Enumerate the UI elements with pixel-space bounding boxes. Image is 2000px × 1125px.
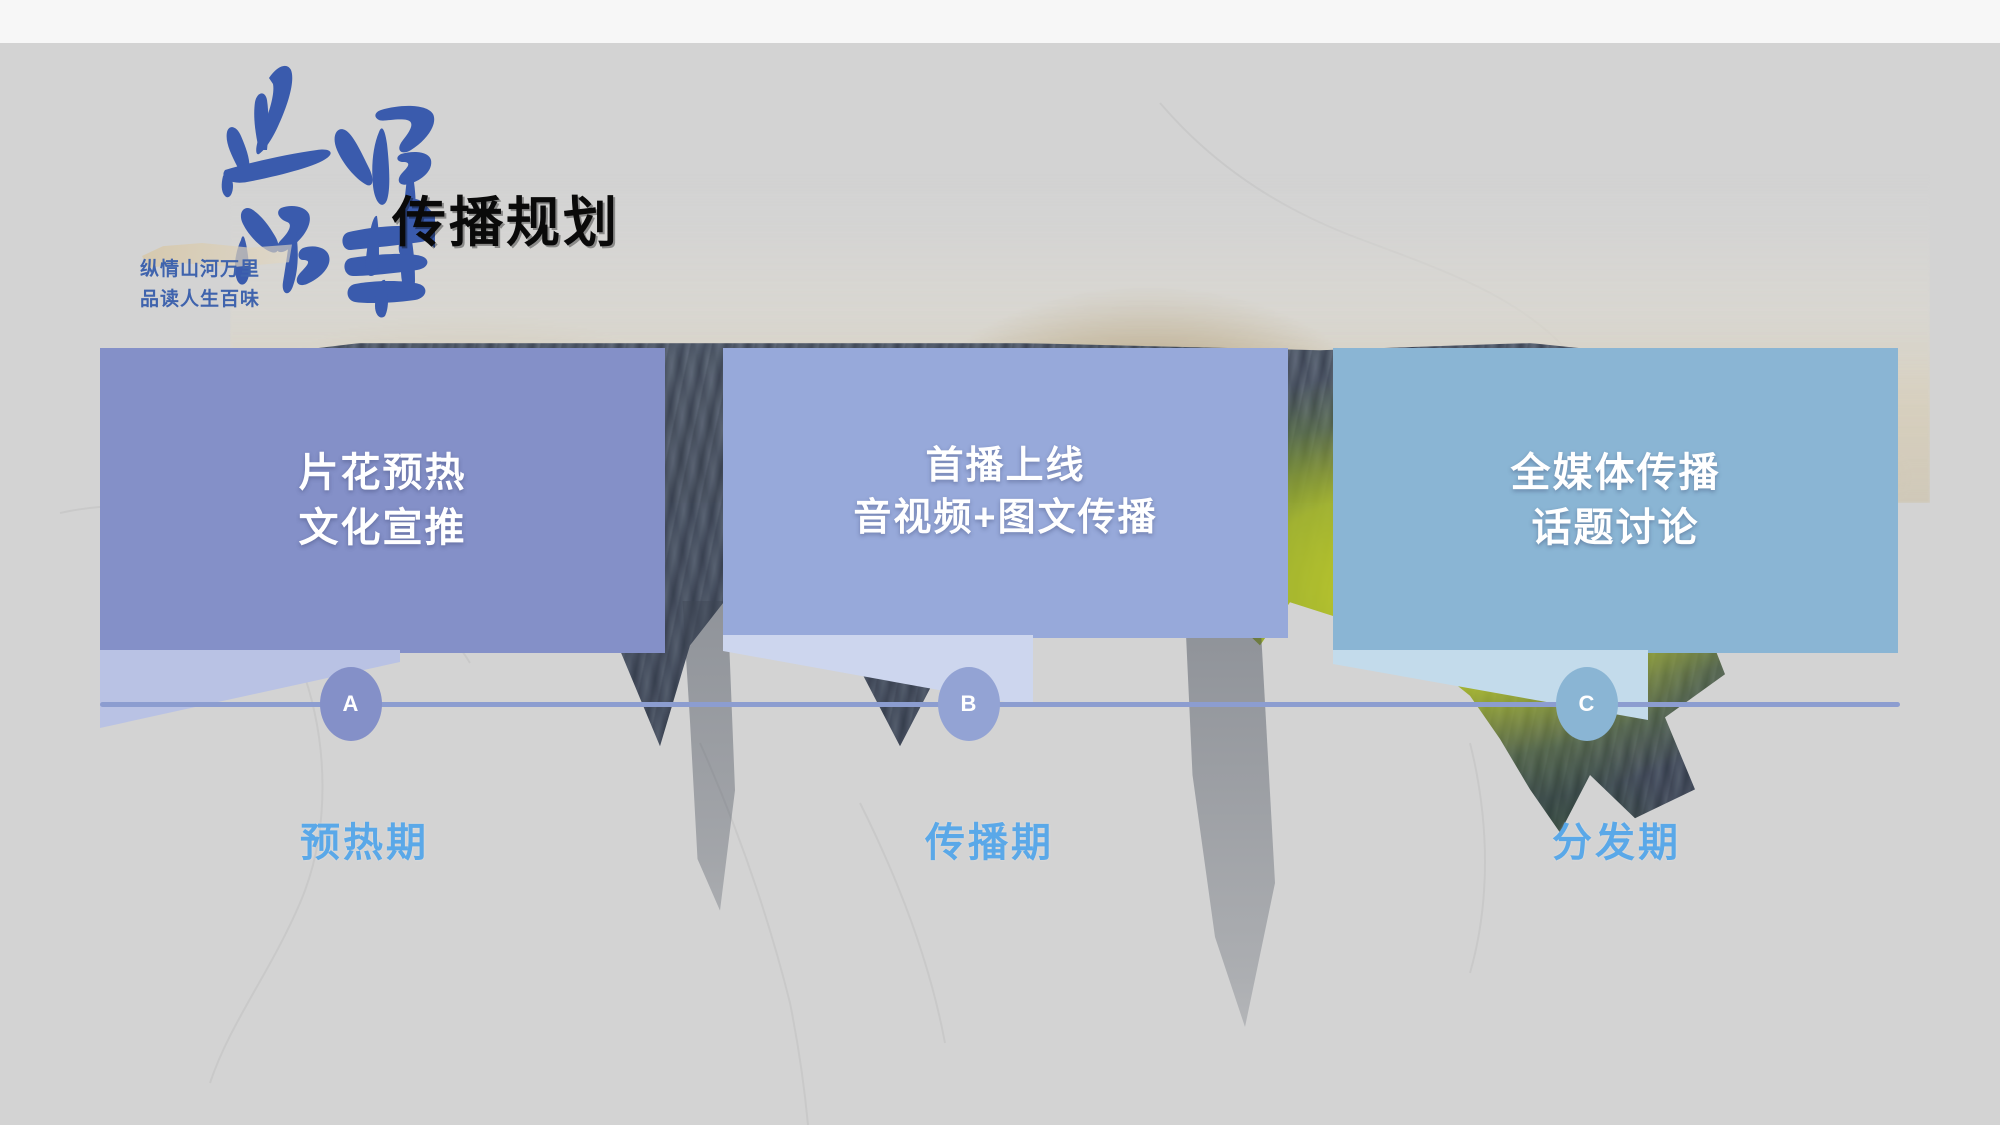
timeline-label-a: 预热期	[300, 810, 429, 868]
timeline-node-c-marker: C	[1579, 691, 1596, 717]
phase-cards: 片花预热 文化宣推 首播上线 音视频+图文传播 全媒体传播 话题讨论	[0, 43, 2000, 1125]
slide-canvas: 纵情山河万里 品读人生百味 传播规划 片花预热 文化宣推 首播上线 音视频+图文…	[0, 43, 2000, 1125]
phase-card-b-text: 首播上线 音视频+图文传播	[835, 441, 1175, 544]
phase-card-c[interactable]: 全媒体传播 话题讨论	[1333, 348, 1898, 653]
timeline-node-c[interactable]: C	[1556, 667, 1618, 741]
timeline-node-a[interactable]: A	[320, 667, 382, 741]
top-strip	[0, 0, 2000, 43]
timeline-label-c: 分发期	[1552, 810, 1681, 868]
phase-card-a[interactable]: 片花预热 文化宣推	[100, 348, 665, 653]
timeline-label-b: 传播期	[925, 810, 1054, 868]
slide-root: 纵情山河万里 品读人生百味 传播规划 片花预热 文化宣推 首播上线 音视频+图文…	[0, 0, 2000, 1125]
timeline-node-a-marker: A	[343, 691, 360, 717]
timeline-node-b-marker: B	[961, 691, 978, 717]
timeline-node-b[interactable]: B	[938, 667, 1000, 741]
phase-card-b[interactable]: 首播上线 音视频+图文传播	[723, 348, 1288, 638]
phase-card-c-text: 全媒体传播 话题讨论	[1493, 446, 1739, 555]
phase-card-a-text: 片花预热 文化宣推	[281, 446, 485, 555]
